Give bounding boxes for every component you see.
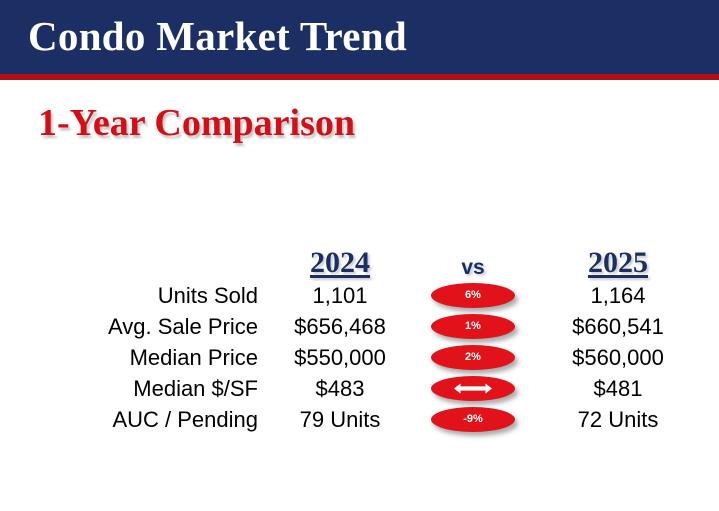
change-badge: 6%	[431, 283, 515, 308]
table-row: Units Sold 1,101 6% 1,164	[0, 280, 719, 311]
change-badge-label: 2%	[465, 352, 481, 363]
column-header-2025: 2025	[538, 246, 698, 280]
row-value-2025: 1,164	[538, 283, 698, 309]
change-badge-label: 6%	[465, 290, 481, 301]
change-badge-label: 1%	[465, 321, 481, 332]
row-value-2025: $660,541	[538, 314, 698, 340]
table-row: Median $/SF $483 $481	[0, 373, 719, 404]
change-badge	[431, 376, 515, 401]
table-row: Median Price $550,000 2% $560,000	[0, 342, 719, 373]
row-label: AUC / Pending	[0, 407, 272, 433]
year-2024-label: 2024	[310, 246, 370, 279]
column-header-2024: 2024	[272, 246, 408, 280]
row-change-cell: 6%	[408, 283, 538, 308]
row-label: Units Sold	[0, 283, 272, 309]
row-change-cell: -9%	[408, 407, 538, 432]
row-value-2025: $560,000	[538, 345, 698, 371]
row-value-2025: 72 Units	[538, 407, 698, 433]
subtitle: 1-Year Comparison	[38, 100, 355, 146]
slide-canvas: Condo Market Trend 1-Year Comparison 202…	[0, 0, 719, 511]
change-badge: 1%	[431, 314, 515, 339]
change-badge: 2%	[431, 345, 515, 370]
table-row: AUC / Pending 79 Units -9% 72 Units	[0, 404, 719, 435]
column-header-vs: vs	[408, 256, 538, 280]
row-change-cell	[408, 376, 538, 401]
row-change-cell: 1%	[408, 314, 538, 339]
row-change-cell: 2%	[408, 345, 538, 370]
row-value-2024: $483	[272, 376, 408, 402]
year-2025-label: 2025	[588, 246, 648, 279]
table-row: Avg. Sale Price $656,468 1% $660,541	[0, 311, 719, 342]
row-value-2024: 1,101	[272, 283, 408, 309]
change-badge-label: -9%	[463, 414, 483, 425]
page-title: Condo Market Trend	[28, 12, 407, 60]
row-value-2024: 79 Units	[272, 407, 408, 433]
change-badge: -9%	[431, 407, 515, 432]
row-label: Median Price	[0, 345, 272, 371]
flat-arrow-icon	[453, 382, 493, 395]
comparison-table: 2024 vs 2025 Units Sold 1,101 6% 1,164 A…	[0, 236, 719, 435]
row-label: Median $/SF	[0, 376, 272, 402]
vs-label: vs	[461, 256, 484, 280]
table-header-row: 2024 vs 2025	[0, 236, 719, 280]
row-value-2024: $656,468	[272, 314, 408, 340]
header-divider	[0, 74, 719, 80]
row-label: Avg. Sale Price	[0, 314, 272, 340]
row-value-2025: $481	[538, 376, 698, 402]
row-value-2024: $550,000	[272, 345, 408, 371]
